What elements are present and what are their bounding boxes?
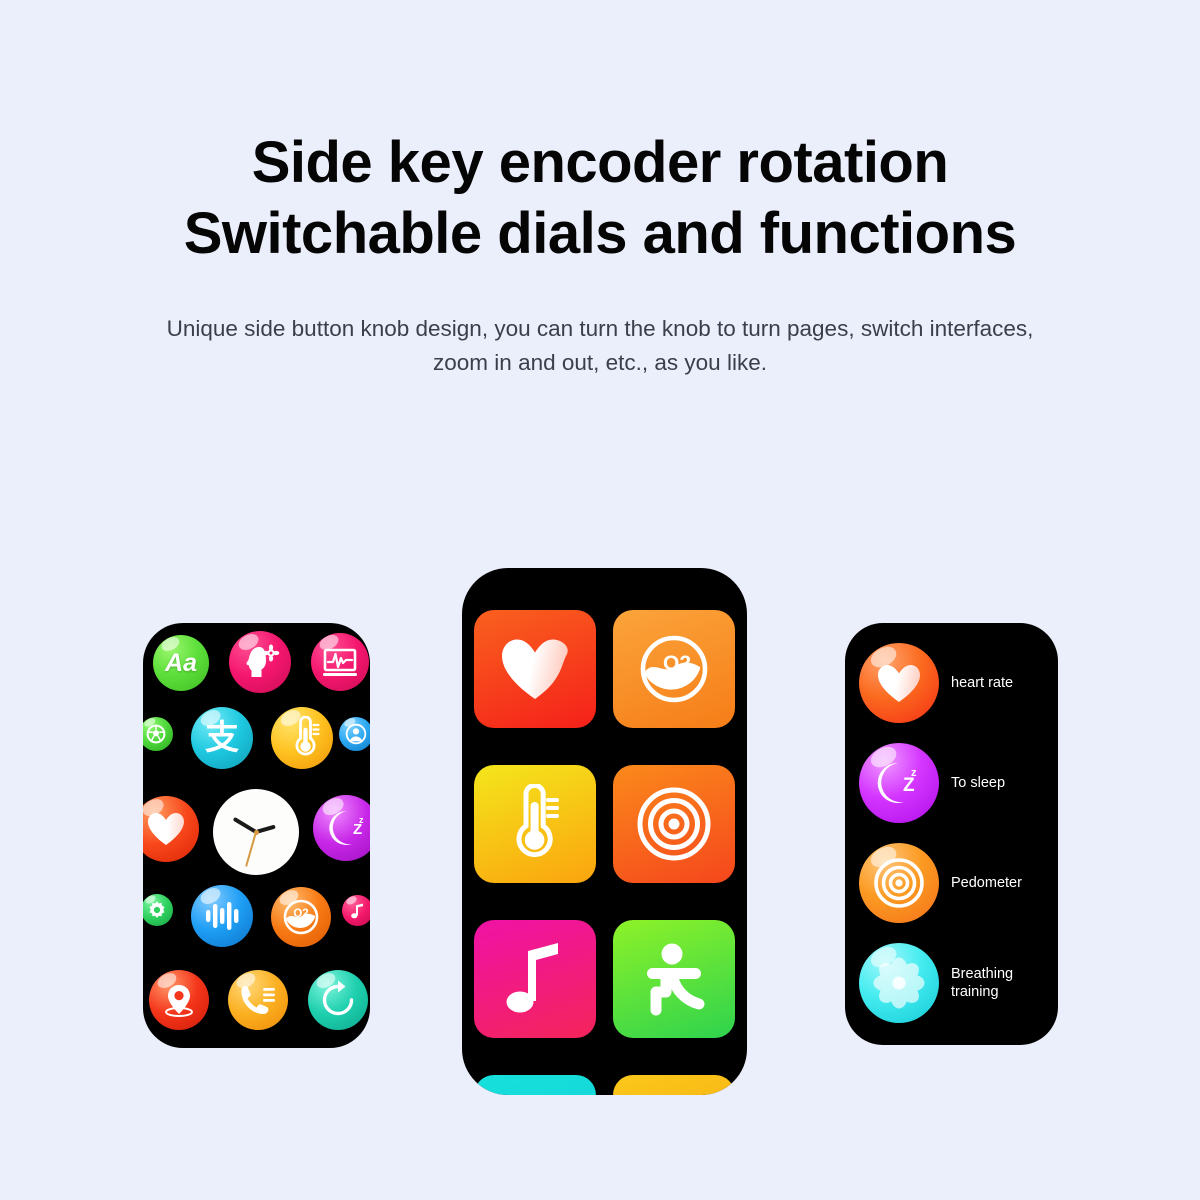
- soccer-ball-icon: [143, 717, 173, 751]
- list-item-heart-rate[interactable]: heart rate: [859, 643, 1013, 723]
- contact-avatar-icon: [339, 717, 370, 751]
- settings-gear-icon: [143, 894, 173, 926]
- app-icon-alipay[interactable]: 支: [191, 707, 253, 769]
- alipay-icon: 支: [191, 707, 253, 769]
- sleep-moon-icon: Z z: [313, 795, 370, 861]
- app-icon-blood-oxygen[interactable]: O2: [271, 887, 331, 947]
- font-size-icon: Aa: [153, 635, 209, 691]
- app-icon-ecg[interactable]: [311, 633, 369, 691]
- music-note-icon: [342, 895, 370, 926]
- app-icon-refresh[interactable]: [308, 970, 368, 1030]
- svg-text:z: z: [911, 767, 917, 779]
- app-icon-thermometer[interactable]: [271, 707, 333, 769]
- app-icon-soccer-ball[interactable]: [143, 717, 173, 751]
- music-note-icon: [502, 939, 568, 1019]
- clock-second-hand: [245, 832, 257, 867]
- heart-rate-icon: [143, 796, 199, 862]
- grid-dial-watch[interactable]: Aa: [143, 623, 370, 1048]
- exercise-running-icon: [633, 938, 715, 1020]
- tile-partial-cyan[interactable]: [474, 1075, 596, 1095]
- app-icon-location[interactable]: [149, 970, 209, 1030]
- page-subtitle-line-1: Unique side button knob design, you can …: [0, 312, 1200, 347]
- svg-text:O2: O2: [293, 908, 308, 920]
- app-icon-contact-avatar[interactable]: [339, 717, 370, 751]
- heart-rate-icon: [859, 643, 939, 723]
- analog-clock-face[interactable]: [213, 789, 299, 875]
- refresh-icon: [308, 970, 368, 1030]
- ecg-chart-icon: [311, 633, 369, 691]
- sleep-moon-icon: Z z: [859, 743, 939, 823]
- beauty-face-icon: [229, 631, 291, 693]
- app-icon-sleep[interactable]: Z z: [313, 795, 370, 861]
- voice-waveform-icon: [191, 885, 253, 947]
- tile-partial-amber[interactable]: [613, 1075, 735, 1095]
- page-subtitle: Unique side button knob design, you can …: [0, 312, 1200, 382]
- list-item-label: Pedometer: [951, 874, 1022, 892]
- list-dial-watch[interactable]: heart rate Z z To sleep: [845, 623, 1058, 1045]
- tile-heart-rate[interactable]: [474, 610, 596, 728]
- app-icon-beauty-face[interactable]: [229, 631, 291, 693]
- tile-dial-watch[interactable]: O2: [462, 568, 747, 1095]
- svg-text:z: z: [359, 815, 364, 825]
- list-item-label: Breathing training: [951, 965, 1013, 1001]
- app-icon-settings[interactable]: [143, 894, 173, 926]
- blood-oxygen-icon: O2: [271, 887, 331, 947]
- page-title-line-2: Switchable dials and functions: [0, 199, 1200, 270]
- page-subtitle-line-2: zoom in and out, etc., as you like.: [0, 346, 1200, 381]
- thermometer-icon: [271, 707, 333, 769]
- blood-oxygen-icon: O2: [631, 626, 717, 712]
- list-item-label: heart rate: [951, 674, 1013, 692]
- location-pin-icon: [149, 970, 209, 1030]
- page-title-line-1: Side key encoder rotation: [0, 128, 1200, 199]
- tile-thermometer[interactable]: [474, 765, 596, 883]
- list-item-label: To sleep: [951, 774, 1005, 792]
- hero-header: Side key encoder rotation Switchable dia…: [0, 128, 1200, 381]
- page-title: Side key encoder rotation Switchable dia…: [0, 128, 1200, 270]
- tile-blood-oxygen[interactable]: O2: [613, 610, 735, 728]
- clock-center-pin: [254, 830, 259, 835]
- app-icon-phone-call[interactable]: [228, 970, 288, 1030]
- list-item-to-sleep[interactable]: Z z To sleep: [859, 743, 1005, 823]
- app-icon-heart-rate[interactable]: [143, 796, 199, 862]
- pedometer-target-icon: [859, 843, 939, 923]
- thermometer-icon: [500, 784, 570, 864]
- svg-text:O2: O2: [663, 652, 691, 675]
- app-icon-music[interactable]: [342, 895, 370, 926]
- breathing-flower-icon: [859, 943, 939, 1023]
- app-icon-voice-waveform[interactable]: [191, 885, 253, 947]
- list-item-pedometer[interactable]: Pedometer: [859, 843, 1022, 923]
- tile-pedometer[interactable]: [613, 765, 735, 883]
- list-item-breathing-training[interactable]: Breathing training: [859, 943, 1013, 1023]
- phone-call-icon: [228, 970, 288, 1030]
- heart-rate-icon: [498, 635, 572, 703]
- tile-music[interactable]: [474, 920, 596, 1038]
- tile-exercise[interactable]: [613, 920, 735, 1038]
- app-icon-font-size[interactable]: Aa: [153, 635, 209, 691]
- pedometer-target-icon: [630, 780, 718, 868]
